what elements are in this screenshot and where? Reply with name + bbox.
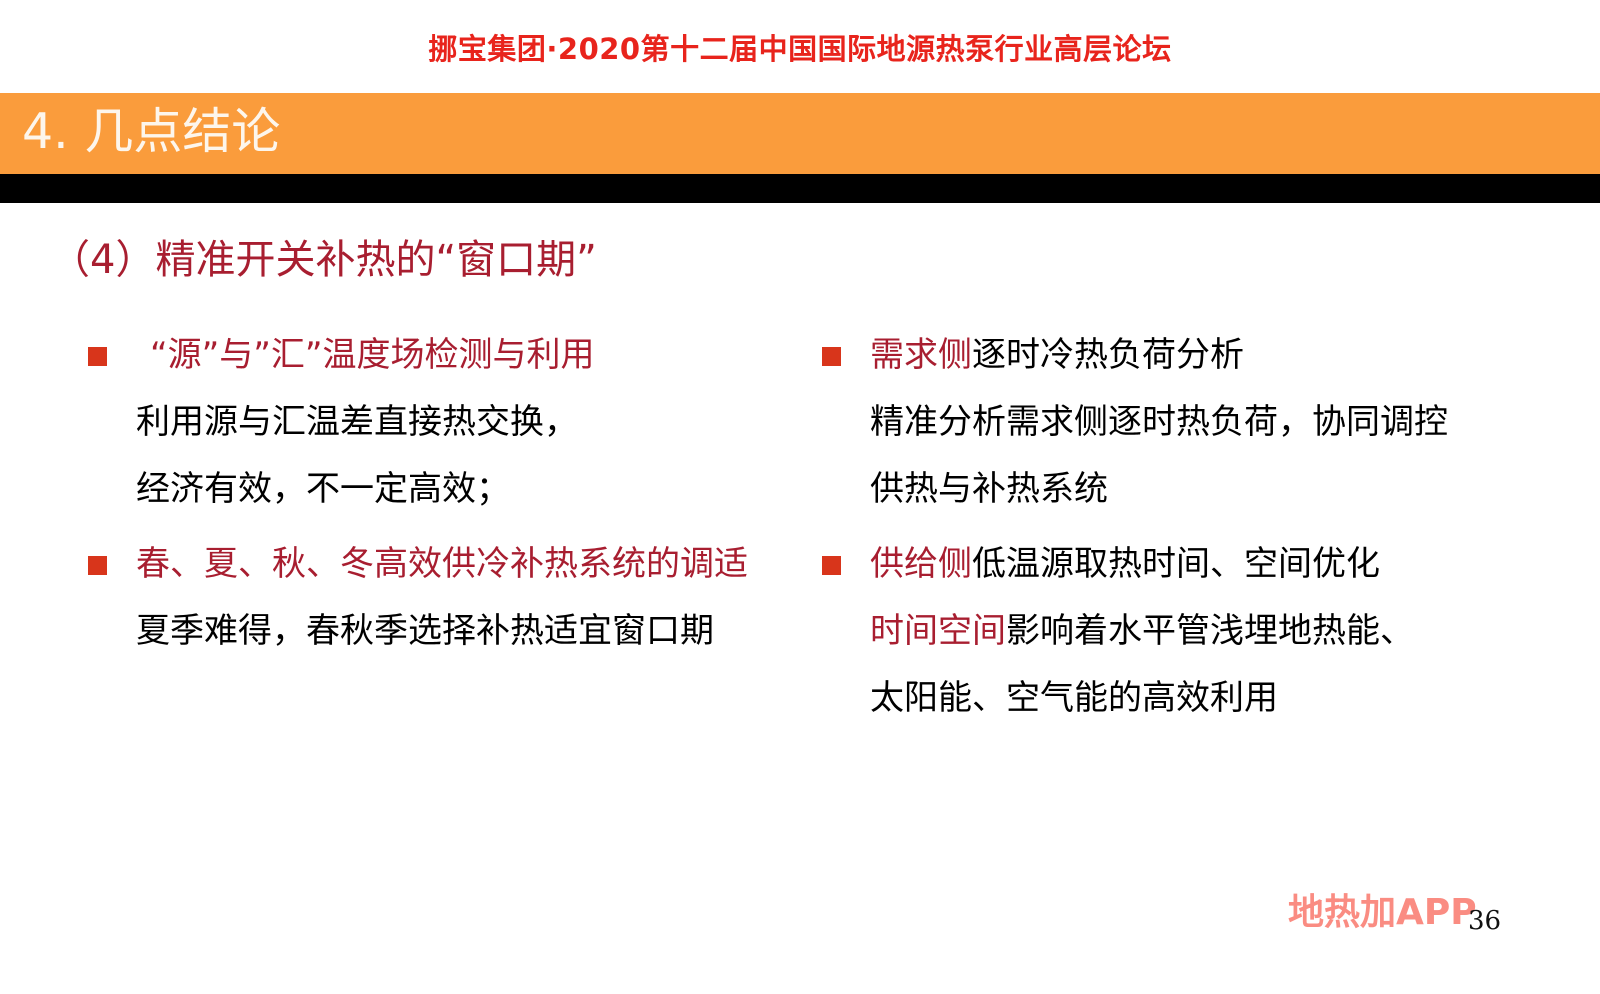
square-bullet-icon	[822, 347, 841, 366]
bullet-line: 经济有效，不一定高效；	[88, 456, 788, 523]
bullet-group: 供给侧低温源取热时间、空间优化 时间空间影响着水平管浅埋地热能、 太阳能、空气能…	[822, 531, 1542, 732]
bullet-line: 时间空间影响着水平管浅埋地热能、	[822, 598, 1542, 665]
bullet-heading: 供给侧低温源取热时间、空间优化	[822, 531, 1542, 598]
section-divider-bar	[0, 174, 1600, 203]
bullet-heading-red-text: 春、夏、秋、冬高效供冷补热系统的调适	[136, 544, 748, 584]
section-banner: 4. 几点结论	[0, 93, 1600, 174]
bullet-group: 需求侧逐时冷热负荷分析 精准分析需求侧逐时热负荷，协同调控 供热与补热系统	[822, 322, 1542, 523]
page-number: 36	[1468, 906, 1501, 936]
bullet-line: 太阳能、空气能的高效利用	[822, 665, 1542, 732]
bullet-line: 利用源与汇温差直接热交换，	[88, 389, 788, 456]
bullet-line: 精准分析需求侧逐时热负荷，协同调控	[822, 389, 1542, 456]
bullet-line-red-text: 时间空间	[870, 611, 1006, 651]
bullet-heading-red-text: “源”与”汇”温度场检测与利用	[150, 335, 594, 375]
bullet-heading: 春、夏、秋、冬高效供冷补热系统的调适	[88, 531, 788, 598]
subsection-title: （4）精准开关补热的“窗口期”	[50, 234, 597, 286]
content-column-right: 需求侧逐时冷热负荷分析 精准分析需求侧逐时热负荷，协同调控 供热与补热系统 供给…	[822, 322, 1542, 732]
bullet-line: 供热与补热系统	[822, 456, 1542, 523]
conference-header-title: 挪宝集团·2020第十二届中国国际地源热泵行业高层论坛	[0, 26, 1600, 68]
app-watermark: 地热加APP	[1288, 883, 1477, 935]
bullet-line-black-text: 影响着水平管浅埋地热能、	[1006, 611, 1414, 651]
bullet-line: 夏季难得，春秋季选择补热适宜窗口期	[88, 598, 788, 665]
slide-canvas: 挪宝集团·2020第十二届中国国际地源热泵行业高层论坛 4. 几点结论 （4）精…	[0, 0, 1600, 994]
bullet-heading-red-text: 需求侧	[870, 335, 972, 375]
bullet-heading: “源”与”汇”温度场检测与利用	[88, 322, 788, 389]
bullet-heading-red-text: 供给侧	[870, 544, 972, 584]
bullet-group: 春、夏、秋、冬高效供冷补热系统的调适 夏季难得，春秋季选择补热适宜窗口期	[88, 531, 788, 665]
bullet-heading-black-text: 逐时冷热负荷分析	[972, 335, 1244, 375]
bullet-heading: 需求侧逐时冷热负荷分析	[822, 322, 1542, 389]
square-bullet-icon	[822, 556, 841, 575]
bullet-group: “源”与”汇”温度场检测与利用 利用源与汇温差直接热交换， 经济有效，不一定高效…	[88, 322, 788, 523]
bullet-heading-black-text: 低温源取热时间、空间优化	[972, 544, 1380, 584]
section-title: 4. 几点结论	[22, 101, 280, 163]
square-bullet-icon	[88, 556, 107, 575]
content-column-left: “源”与”汇”温度场检测与利用 利用源与汇温差直接热交换， 经济有效，不一定高效…	[88, 322, 788, 665]
square-bullet-icon	[88, 347, 107, 366]
